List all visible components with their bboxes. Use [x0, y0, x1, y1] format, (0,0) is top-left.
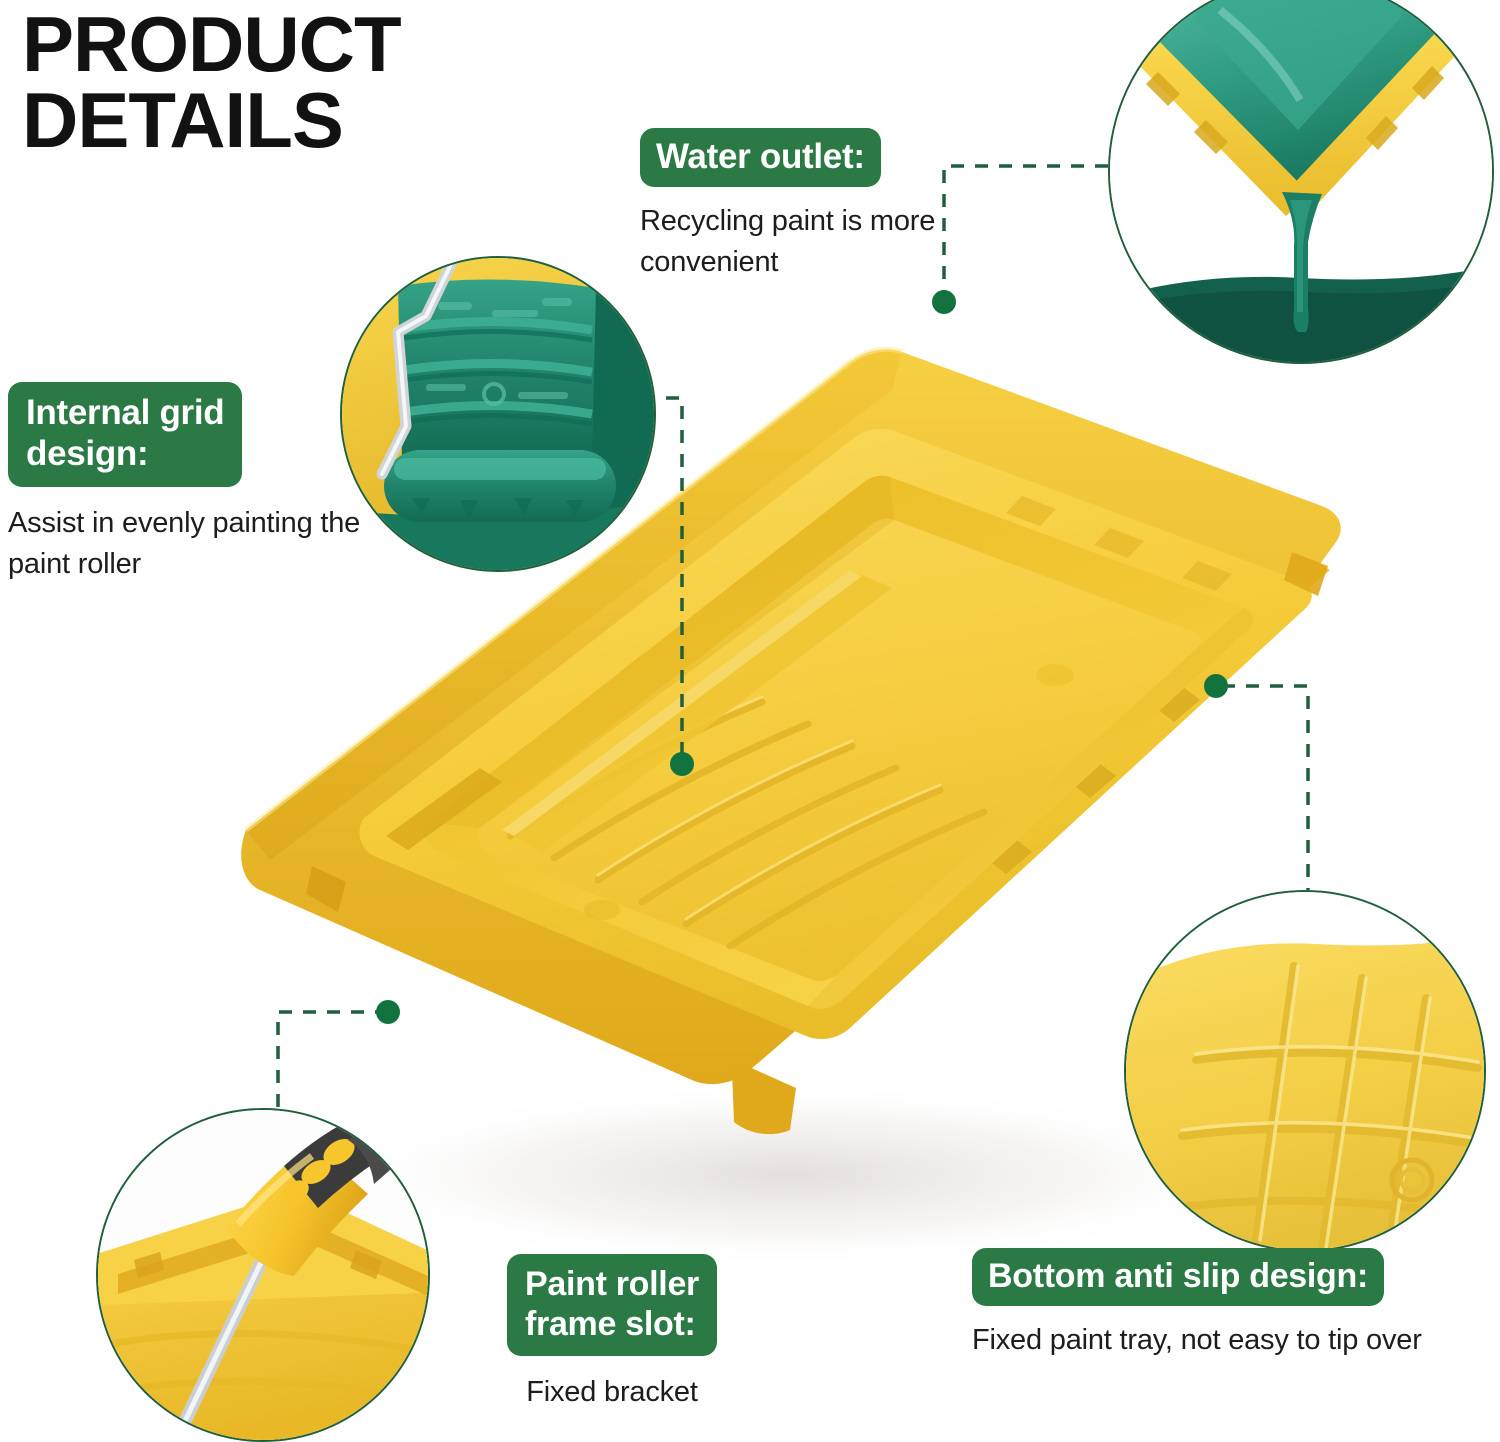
- marker-dot-frame-slot: [376, 1000, 400, 1024]
- callout-badge-internal-grid: Internal grid design:: [8, 382, 242, 487]
- infographic-canvas: PRODUCT DETAILS: [0, 0, 1500, 1440]
- callout-frame-slot: Paint roller frame slot: Fixed bracket: [462, 1254, 762, 1413]
- page-title-line-1: PRODUCT: [22, 0, 401, 88]
- leader-line-frame-slot: [272, 1006, 402, 1126]
- callout-badge-anti-slip: Bottom anti slip design:: [972, 1248, 1384, 1306]
- callout-badge-frame-slot-line-2: frame slot:: [525, 1305, 696, 1343]
- callout-internal-grid: Internal grid design: Assist in evenly p…: [8, 382, 388, 585]
- callout-anti-slip: Bottom anti slip design: Fixed paint tra…: [972, 1248, 1482, 1361]
- callout-description-internal-grid: Assist in evenly painting the paint roll…: [8, 503, 388, 585]
- marker-dot-anti-slip: [1204, 674, 1228, 698]
- leader-line-anti-slip: [1216, 680, 1336, 900]
- marker-dot-water-outlet: [932, 290, 956, 314]
- inset-photo-anti-slip: [1124, 890, 1486, 1252]
- marker-dot-internal-grid: [670, 752, 694, 776]
- callout-badge-internal-grid-line-2: design:: [26, 434, 148, 473]
- callout-description-anti-slip: Fixed paint tray, not easy to tip over: [972, 1320, 1482, 1361]
- callout-description-frame-slot: Fixed bracket: [462, 1372, 762, 1413]
- callout-badge-frame-slot-line-1: Paint roller: [525, 1265, 699, 1303]
- inset-photo-frame-slot: [96, 1108, 430, 1442]
- inset-photo-water-outlet: [1108, 0, 1494, 364]
- page-title: PRODUCT DETAILS: [22, 6, 662, 159]
- callout-badge-water-outlet: Water outlet:: [640, 128, 881, 187]
- callout-badge-internal-grid-line-1: Internal grid: [26, 393, 224, 432]
- callout-badge-frame-slot: Paint roller frame slot:: [507, 1254, 717, 1356]
- page-title-line-2: DETAILS: [22, 82, 662, 158]
- leader-line-internal-grid: [640, 392, 720, 782]
- callout-water-outlet: Water outlet: Recycling paint is more co…: [640, 128, 970, 284]
- callout-description-water-outlet: Recycling paint is more convenient: [640, 201, 970, 283]
